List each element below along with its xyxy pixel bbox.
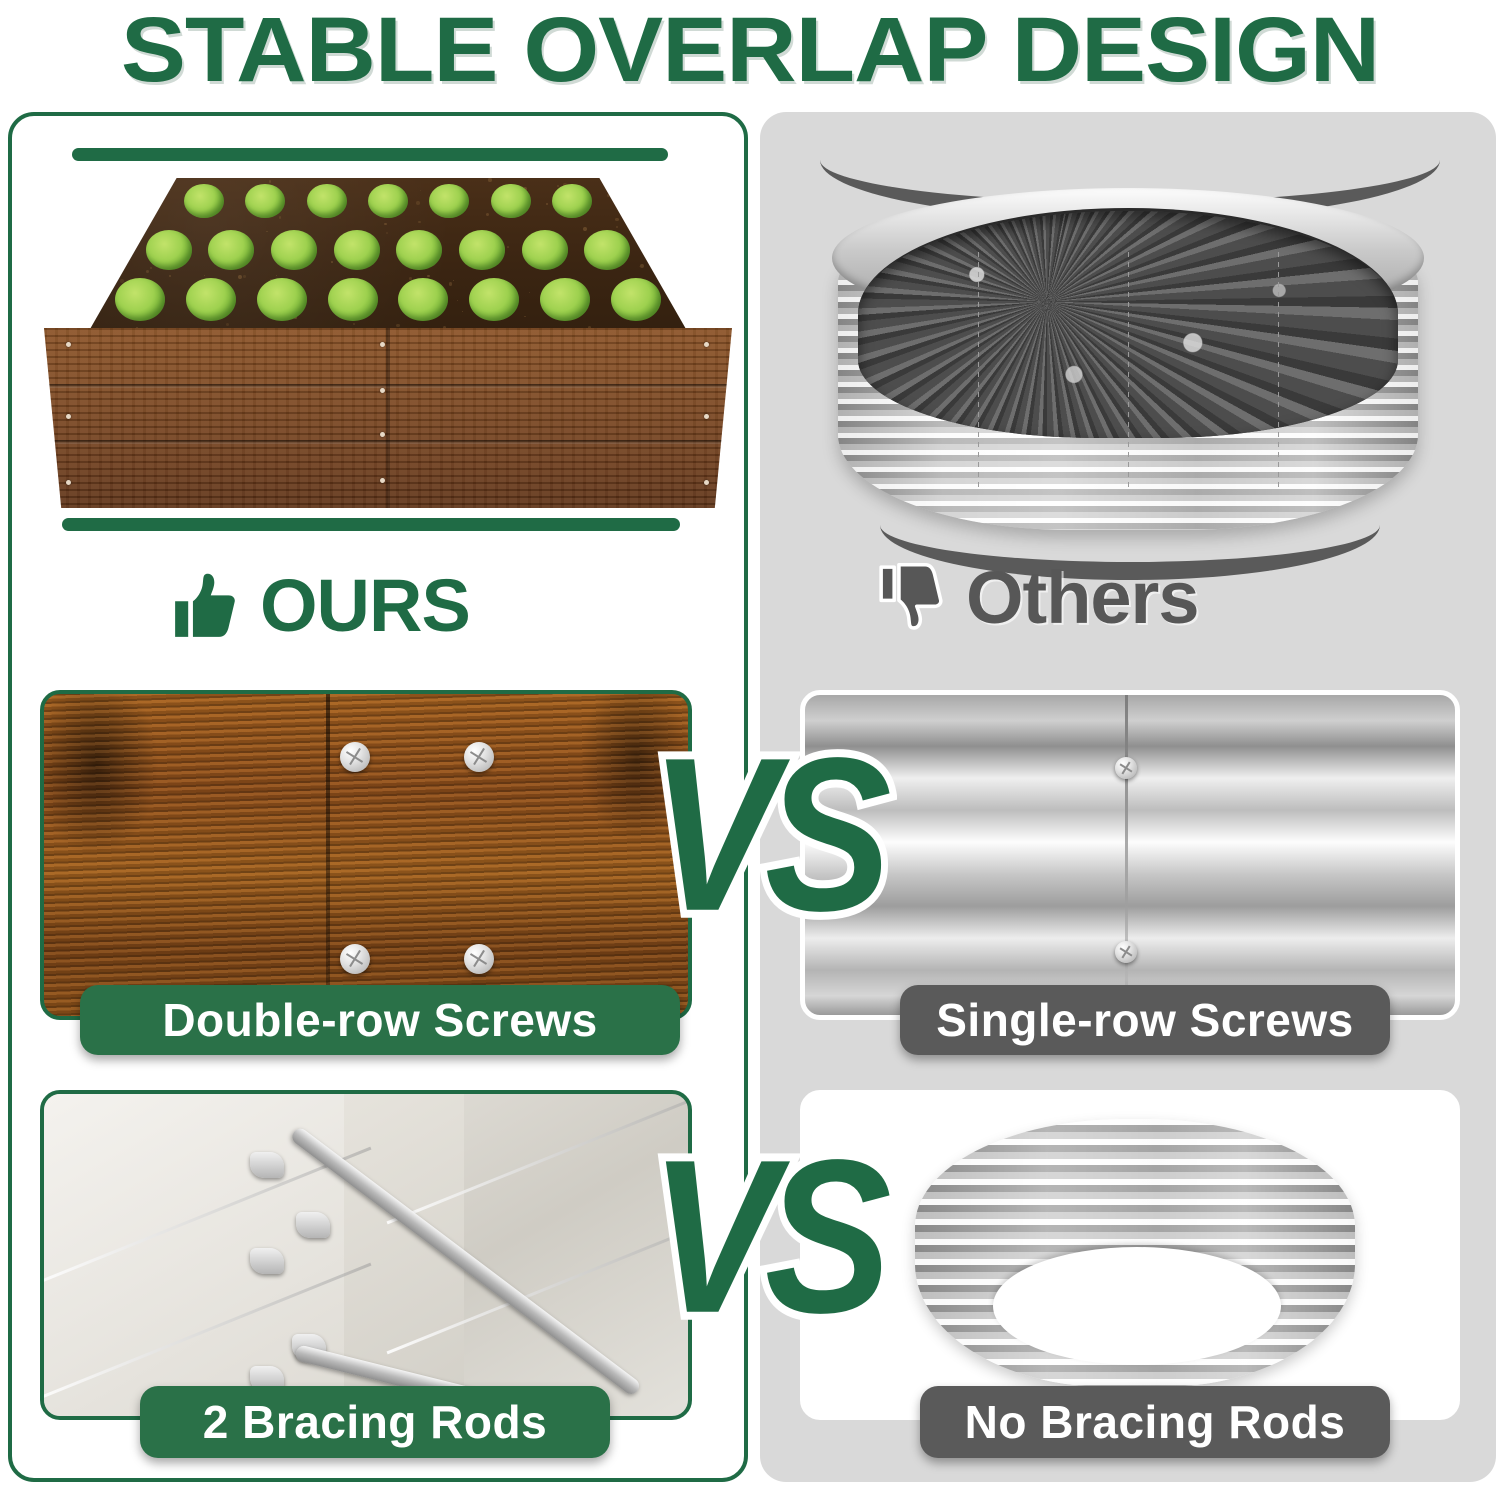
lettuce-plant [469,278,519,321]
lettuce-plant [146,230,192,270]
lettuce-plant [459,230,505,270]
lettuce-plant [208,230,254,270]
lettuce-plant [398,278,448,321]
ours-verdict-header: OURS [168,566,470,646]
others-feature-badge-screws: Single-row Screws [900,985,1390,1055]
ours-feature-badge-screws: Double-row Screws [80,985,680,1055]
lettuce-plant [368,184,408,218]
lettuce-plant [271,230,317,270]
divider-rule-top [72,148,668,161]
ours-bracing-image [40,1090,692,1420]
lettuce-plant [184,184,224,218]
lettuce-plant [245,184,285,218]
vs-mark-2: VS [650,1128,879,1347]
others-verdict-header: Others [874,558,1199,638]
ours-screws-image [40,690,692,1020]
thumbs-up-icon [168,566,244,646]
page-title: STABLE OVERLAP DESIGN [0,2,1500,98]
lettuce-plant [307,184,347,218]
lettuce-plant [491,184,531,218]
lettuce-plant [584,230,630,270]
lettuce-plant [429,184,469,218]
lettuce-plant [186,278,236,321]
others-screws-image [800,690,1460,1020]
soil-surface [86,178,690,336]
ours-hero-image [38,178,738,508]
lettuce-plant [115,278,165,321]
others-feature-badge-rods: No Bracing Rods [920,1386,1390,1458]
others-label: Others [966,560,1199,636]
wood-panel-front [44,328,732,508]
lettuce-plant [552,184,592,218]
lettuce-plant [522,230,568,270]
others-bracing-image [800,1090,1460,1420]
lettuce-plant [257,278,307,321]
lettuce-plant [396,230,442,270]
lettuce-plant [334,230,380,270]
vs-mark-1: VS [650,726,879,945]
ours-feature-badge-rods: 2 Bracing Rods [140,1386,610,1458]
lettuce-plant [540,278,590,321]
divider-rule-bottom [62,518,680,531]
others-hero-image [828,152,1428,542]
ours-label: OURS [260,568,470,644]
lettuce-plant [611,278,661,321]
infographic-root: STABLE OVERLAP DESIGN [0,0,1500,1494]
ring-opening [993,1247,1281,1365]
lettuce-plant [328,278,378,321]
thumbs-down-icon [874,558,950,638]
